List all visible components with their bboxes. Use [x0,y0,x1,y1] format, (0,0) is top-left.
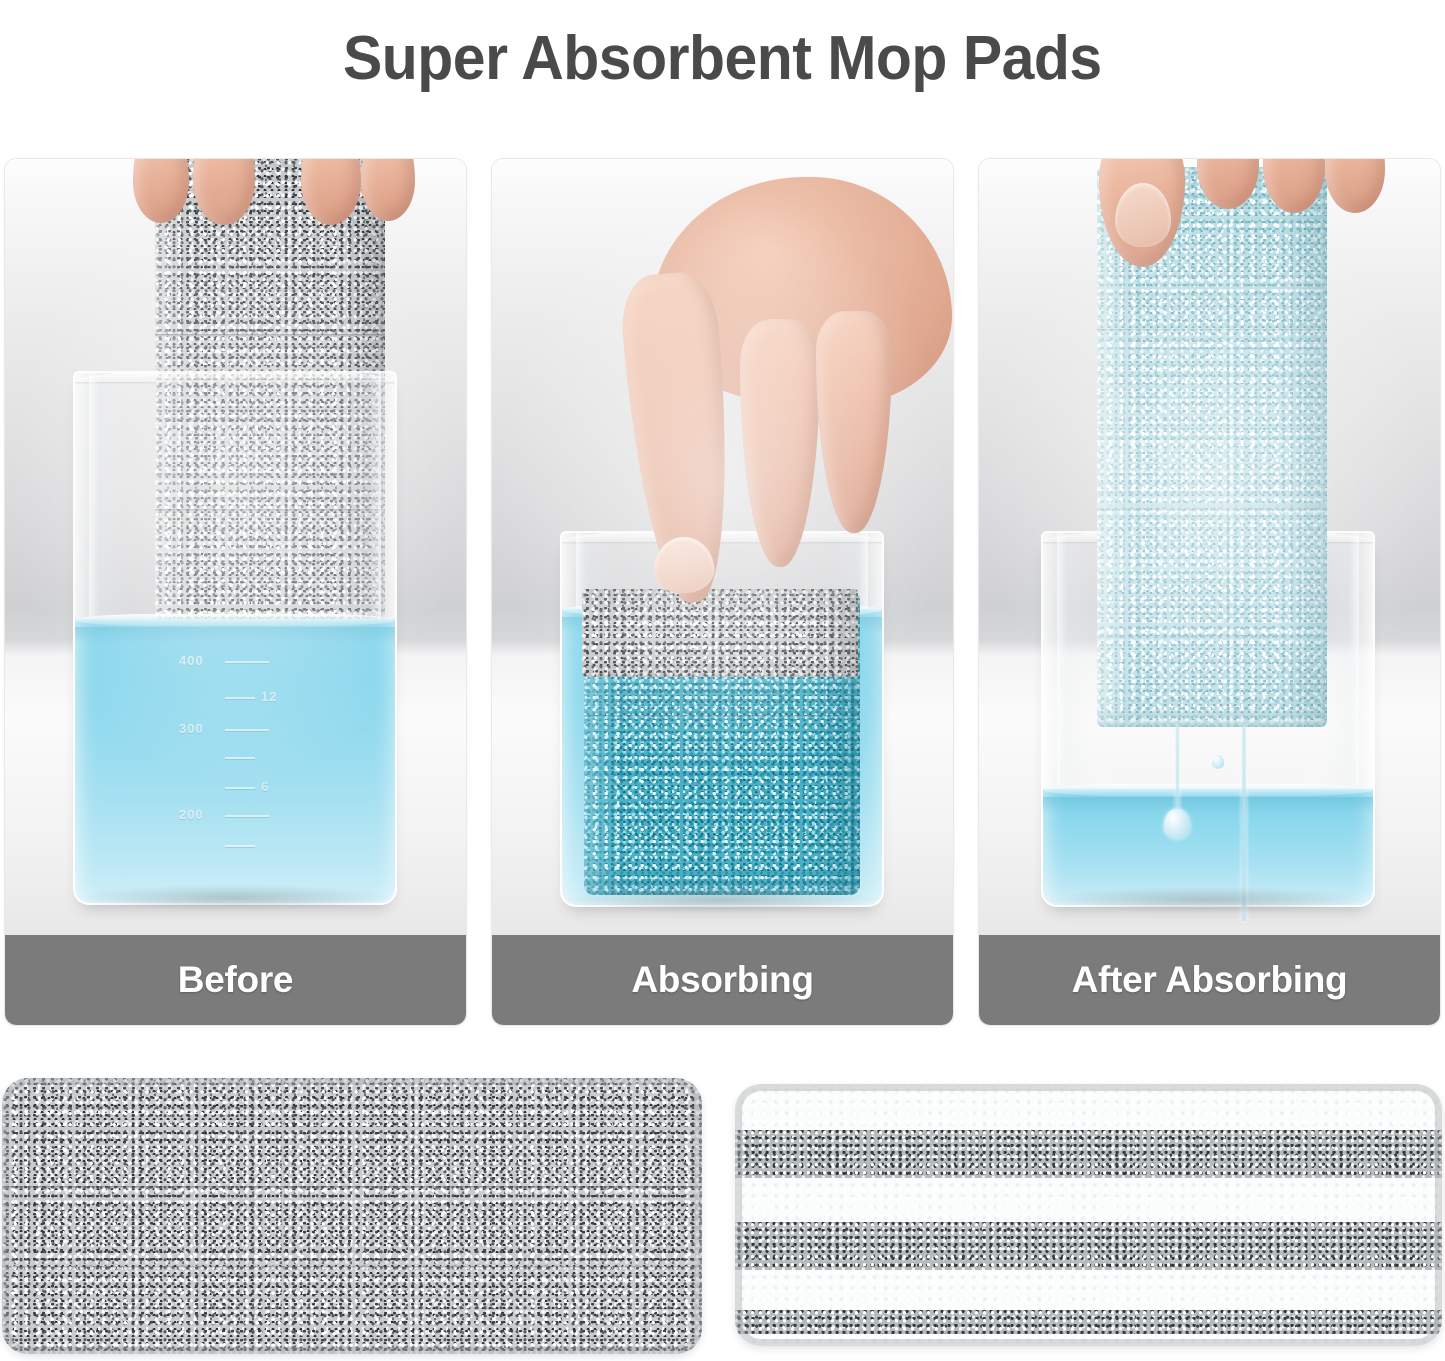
product-pad-gray [2,1078,702,1354]
caption-label: Before [178,959,293,1001]
caption-label: After Absorbing [1072,959,1348,1001]
graduation-label: 200 [179,807,204,822]
graduation-line [225,661,269,663]
graduation-label: 12 [261,689,277,704]
panel-absorbing: Absorbing [491,158,954,1026]
page-title: Super Absorbent Mop Pads [343,28,1102,90]
pad-stripe-white [735,1178,1442,1222]
middle-finger [740,319,820,567]
pad-seam [2,1266,702,1269]
graduation-label: 400 [179,653,204,668]
ring-finger [816,311,892,533]
caption-label: Absorbing [631,959,813,1001]
graduation-line [225,787,255,789]
pad-edge [2,1078,702,1354]
pad-stripe-white [735,1334,1442,1346]
caption-bar-after-absorbing: After Absorbing [979,935,1440,1025]
pad-stripe-gray [735,1222,1442,1270]
graduation-line [225,729,269,731]
finger [193,159,255,225]
beaker-before: 400 12 300 6 200 [73,371,397,905]
comparison-panel-row: 400 12 300 6 200 [4,158,1441,1024]
beaker-shadow [79,885,389,911]
pad-seam [1097,329,1327,332]
pad-stripe-gray [735,1310,1442,1334]
hand-holding [1075,159,1405,259]
panel-before: 400 12 300 6 200 [4,158,467,1026]
graduation-label: 300 [179,721,204,736]
finger [1263,159,1325,213]
finger [1325,159,1385,213]
scene-after-absorbing [979,159,1440,935]
graduation-line [225,757,255,759]
hand-pressing [592,169,952,699]
graduation-label: 6 [261,779,269,794]
hand [115,159,425,229]
pad-seam [1097,509,1327,512]
caption-bar-absorbing: Absorbing [492,935,953,1025]
pad-seam [584,715,860,718]
finger [301,159,361,225]
page-title-bar: Super Absorbent Mop Pads [0,0,1445,118]
pad-stripe-white [735,1084,1442,1130]
water-droplet-small [1212,755,1224,769]
product-pad-row [0,1072,1445,1361]
pad-seam [155,334,385,337]
pad-seam [2,1186,702,1189]
water-droplet [1164,809,1190,839]
scene-absorbing [492,159,953,935]
pad-stripe-gray [735,1130,1442,1178]
graduation-line [225,697,255,699]
drip-stream [1175,725,1180,817]
liquid-level-before: 400 12 300 6 200 [75,619,395,903]
graduation-line [225,845,255,847]
panel-after-absorbing: After Absorbing [978,158,1441,1026]
scene-before: 400 12 300 6 200 [5,159,466,935]
beaker-shadow [566,887,876,913]
graduation-marks: 400 12 300 6 200 [75,619,395,903]
beaker-rim [73,371,397,382]
caption-bar-before: Before [5,935,466,1025]
finger [133,159,189,223]
beaker-shadow [1047,887,1365,913]
graduation-line [225,815,269,817]
finger [1197,159,1259,209]
pad-stripe-white [735,1270,1442,1310]
finger [361,159,415,221]
product-pad-striped [735,1084,1442,1346]
